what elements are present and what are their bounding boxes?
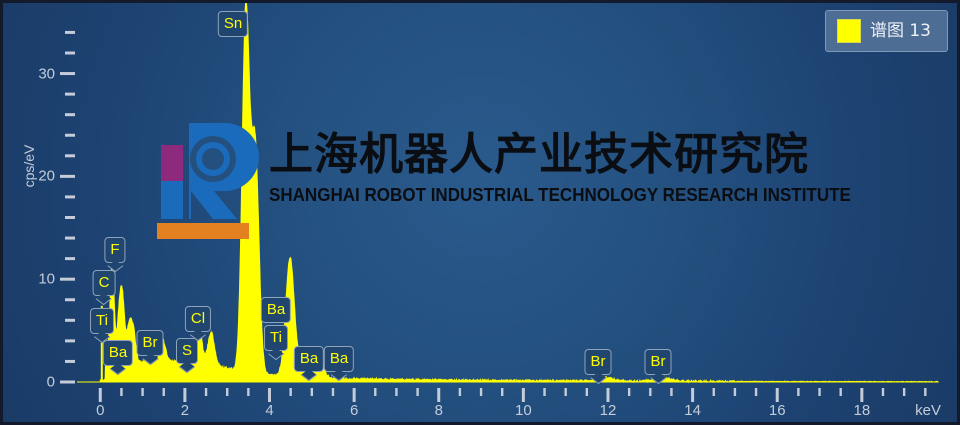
- peak-label-c[interactable]: C: [93, 270, 116, 296]
- x-tick-label: 16: [769, 402, 786, 419]
- peak-label-s[interactable]: S: [176, 338, 198, 364]
- peak-label-ba[interactable]: Ba: [324, 346, 354, 372]
- peak-label-br[interactable]: Br: [585, 349, 612, 375]
- legend[interactable]: 谱图 13: [825, 10, 948, 52]
- x-tick-label: 0: [96, 402, 104, 419]
- peak-label-br[interactable]: Br: [137, 330, 164, 356]
- x-tick-label: 18: [853, 402, 870, 419]
- x-tick-label: 12: [600, 402, 617, 419]
- y-tick-label: 30: [21, 65, 55, 82]
- x-tick-label: 8: [435, 402, 443, 419]
- y-tick-label: 10: [21, 271, 55, 288]
- x-axis-title: keV: [915, 402, 941, 419]
- peak-label-f[interactable]: F: [104, 237, 125, 263]
- x-tick-label: 2: [181, 402, 189, 419]
- peak-label-ba[interactable]: Ba: [261, 297, 291, 323]
- x-tick-label: 6: [350, 402, 358, 419]
- peak-label-br[interactable]: Br: [645, 349, 672, 375]
- peak-label-sn[interactable]: Sn: [218, 11, 248, 37]
- peak-label-cl[interactable]: Cl: [185, 306, 211, 332]
- y-axis-title: cps/eV: [21, 126, 37, 206]
- y-tick-label: 0: [21, 374, 55, 391]
- peak-label-ti[interactable]: Ti: [90, 308, 114, 334]
- legend-label: 谱图 13: [870, 23, 931, 40]
- spectrum-viewer: 上海机器人产业技术研究院 SHANGHAI ROBOT INDUSTRIAL T…: [0, 0, 960, 425]
- x-tick-label: 4: [265, 402, 273, 419]
- peak-label-ba[interactable]: Ba: [294, 346, 324, 372]
- x-tick-label: 10: [515, 402, 532, 419]
- peak-label-ba[interactable]: Ba: [103, 340, 133, 366]
- legend-color-swatch: [837, 19, 861, 43]
- x-tick-label: 14: [684, 402, 701, 419]
- peak-label-ti[interactable]: Ti: [264, 325, 288, 351]
